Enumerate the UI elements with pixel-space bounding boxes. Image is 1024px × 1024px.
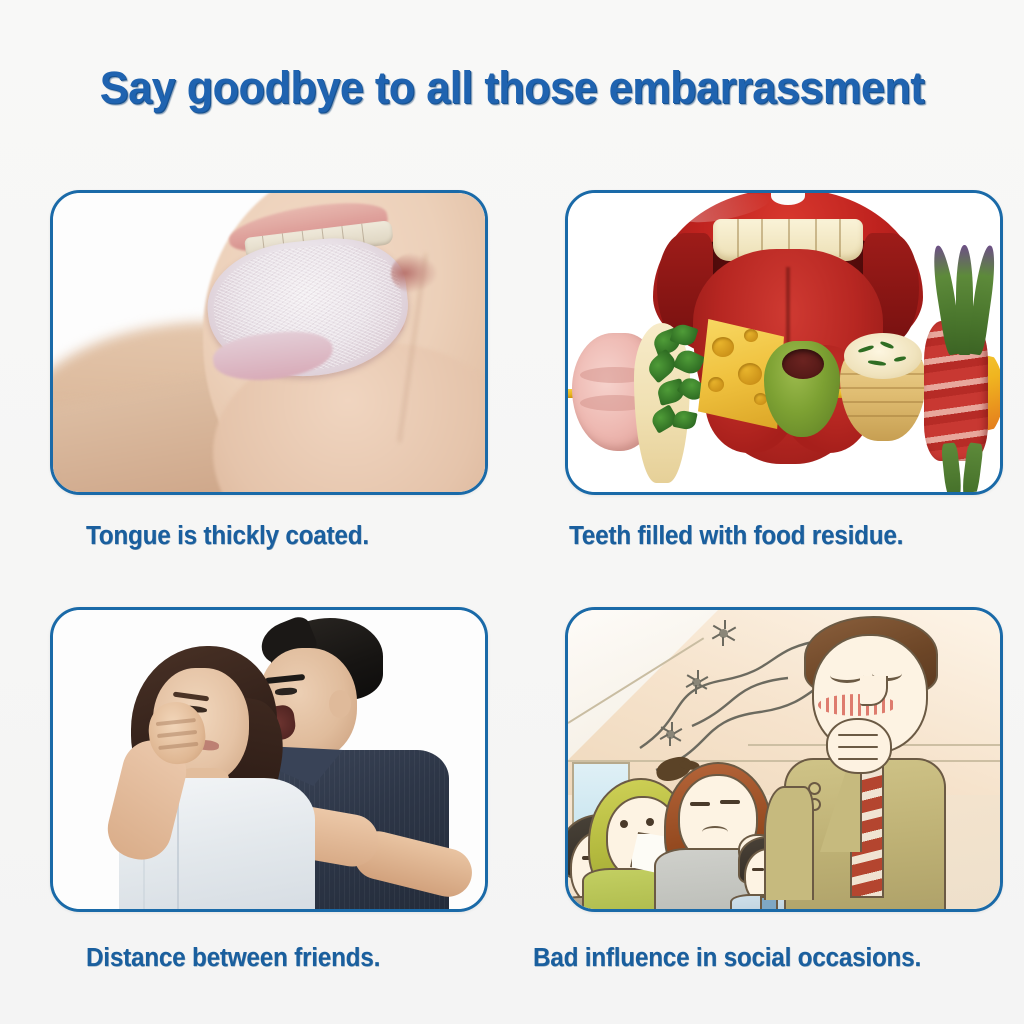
panel-teeth-food[interactable] xyxy=(565,190,1003,495)
mouth-corner xyxy=(391,253,437,293)
person-eye xyxy=(690,802,710,806)
panel-social-image xyxy=(568,610,1000,909)
person-eye xyxy=(620,820,628,828)
panel-grid: Tongue is thickly coated. xyxy=(0,0,1024,1024)
panel-social-occasions[interactable] xyxy=(565,607,1003,912)
panel-cell-tongue: Tongue is thickly coated. xyxy=(50,190,488,495)
caption-tongue: Tongue is thickly coated. xyxy=(86,522,369,551)
man-arm xyxy=(764,786,814,900)
panel-friends-distance[interactable] xyxy=(50,607,488,912)
person-frown xyxy=(702,826,728,838)
person-eye xyxy=(752,868,764,871)
caption-friends-distance: Distance between friends. xyxy=(86,944,380,973)
panel-tongue[interactable] xyxy=(50,190,488,495)
man-ear xyxy=(329,690,351,718)
panel-cell-social-occasions: Bad influence in social occasions. xyxy=(565,607,1003,912)
sparkle-icon xyxy=(688,674,704,690)
sparkle-icon xyxy=(662,726,678,742)
panel-friends-image xyxy=(53,610,485,909)
caption-teeth-food: Teeth filled with food residue. xyxy=(569,522,903,551)
caption-social-occasions: Bad influence in social occasions. xyxy=(533,944,921,973)
green-olive xyxy=(764,341,840,437)
man-hand-covering-mouth xyxy=(826,718,892,774)
person-eye xyxy=(646,818,654,826)
asparagus-stems xyxy=(940,443,988,492)
cracker-topping xyxy=(844,333,922,379)
panel-tongue-image xyxy=(53,193,485,492)
olive-pit-hole xyxy=(782,349,824,379)
person-eye xyxy=(720,800,740,804)
man-eye xyxy=(830,668,864,683)
infographic-page: Say goodbye to all those embarrassment xyxy=(0,0,1024,1024)
sparkle-icon xyxy=(714,624,732,642)
panel-cell-teeth-food: Teeth filled with food residue. xyxy=(565,190,1003,495)
panel-teeth-food-image xyxy=(568,193,1000,492)
food-skewer xyxy=(568,193,1000,492)
panel-cell-friends-distance: Distance between friends. xyxy=(50,607,488,912)
asparagus-tops xyxy=(936,245,992,355)
